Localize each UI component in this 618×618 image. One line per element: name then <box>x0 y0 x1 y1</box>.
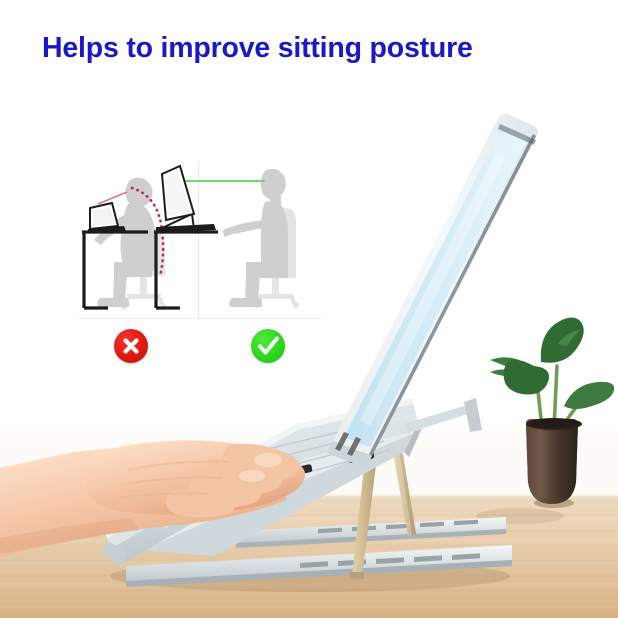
check-icon <box>251 329 285 363</box>
close-icon <box>114 329 148 363</box>
potted-plant <box>468 300 618 530</box>
panel-bad-posture <box>82 178 167 310</box>
status-badge-bad <box>114 329 148 363</box>
posture-comparison-infographic <box>74 158 324 384</box>
product-image-canvas: Helps to improve sitting posture <box>0 0 618 618</box>
status-badge-good <box>251 329 285 363</box>
laptop-on-stand-good <box>156 166 216 232</box>
leaf-right <box>564 382 614 409</box>
posture-figures <box>74 158 324 328</box>
plant-pot <box>526 418 582 508</box>
page-title: Helps to improve sitting posture <box>42 33 473 64</box>
panel-good-posture <box>154 166 299 308</box>
plant-leaves <box>490 317 614 409</box>
leaf-left <box>504 360 549 395</box>
